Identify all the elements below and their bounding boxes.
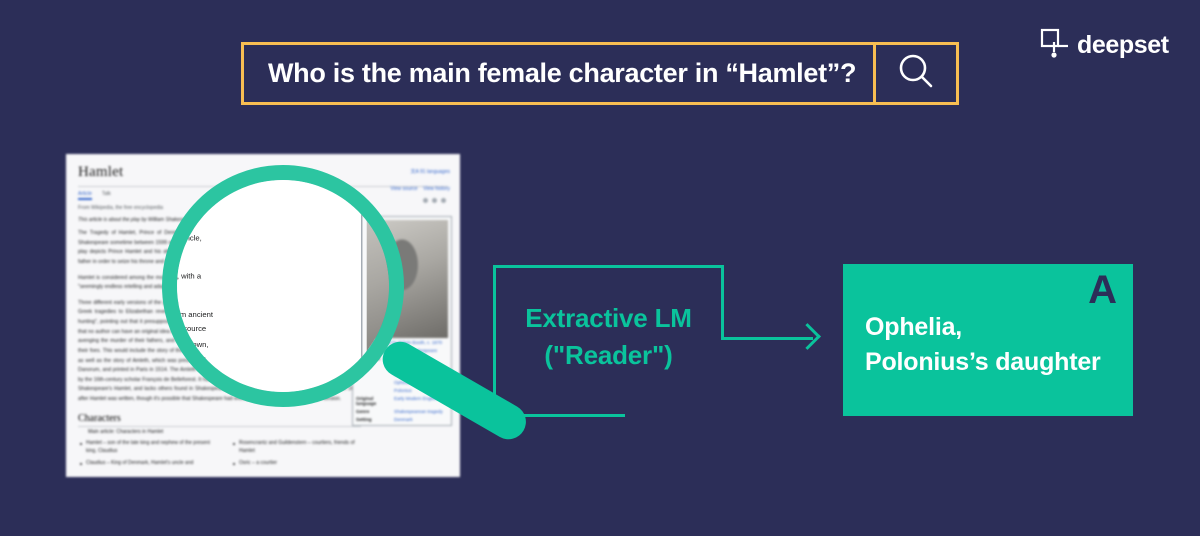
answer-card: A Ophelia, Polonius’s daughter [843,264,1133,416]
magnifying-glass-icon: Hamlet portrayed by Edwin Booth, c. 1870… [162,165,404,407]
list-item: Rosencrantz and Guildenstern – courtiers… [239,439,368,456]
deepset-logo: deepset [1040,28,1169,63]
lens-text-block: espeare. For the type of settlement, see… [177,180,389,392]
search-query-text: Who is the main female character in “Ham… [268,58,856,89]
more-icon[interactable] [441,198,446,203]
reader-label-line1: Extractive LM [493,300,724,337]
brand-name: deepset [1077,33,1169,58]
lock-icon[interactable] [432,198,437,203]
answer-badge: A [1088,270,1117,310]
arrow-head-icon [794,323,821,350]
lens-line: t, often shortened to Hamlet (/ˈhæmlɪt/)… [177,201,389,216]
reader-bracket-bottom [493,414,625,417]
lens-line: the murder of their fathers, and many ab… [177,368,389,383]
infobox-row: GenreShakespearean tragedy [356,409,448,414]
lens-line: espeare. For the type of settlement, see… [177,180,389,193]
list-item: Claudius – King of Denmark, Hamlet's unc… [86,459,215,468]
list-item: Hamlet – son of the late king and nephew… [86,439,215,456]
answer-text: Ophelia, Polonius’s daughter [865,310,1101,379]
lens-line: rince Hamlet and his attempts to exact r… [177,231,389,246]
search-bar[interactable]: Who is the main female character in “Ham… [241,42,959,105]
doc-language-selector[interactable]: 文A 91 languages [411,168,450,175]
deepset-square-mark-icon [1040,28,1068,63]
slide-canvas: deepset Who is the main female character… [0,0,1200,536]
answer-line2: Polonius’s daughter [865,345,1101,380]
reader-label: Extractive LM ("Reader") [493,300,724,374]
characters-column-left: Hamlet – son of the late king and nephew… [78,439,215,471]
doc-page-action-icons[interactable] [423,198,446,203]
lens-line: powerful and influential tragedies in th… [177,270,389,285]
reader-bracket-top [493,265,724,268]
search-input[interactable]: Who is the main female character in “Ham… [244,45,873,102]
lens-line: 599 and 1601. It is Shakespeare's longes… [177,216,389,231]
search-button[interactable] [876,45,956,102]
lens-line: The editors of the Arden Shakespeare que… [177,323,389,338]
list-item: Osric – a courtier [239,459,368,468]
doc-view-source[interactable]: View source [390,186,417,192]
characters-columns: Hamlet – son of the late king and nephew… [78,439,368,471]
doc-view-history[interactable]: View history [423,186,450,192]
lens-line: art their foes. This would include the s… [177,383,389,392]
doc-tools[interactable]: View source View history [390,186,450,192]
search-icon [896,51,936,96]
lens-line: es that authors always require ideas fro… [177,338,389,353]
doc-section-heading: Characters [78,413,361,427]
doc-main-article-note: Main article: Characters in Hamlet [88,429,448,435]
doc-tab-talk[interactable]: Talk [102,191,111,200]
magnifier-lens: Hamlet portrayed by Edwin Booth, c. 1870… [177,180,389,392]
reader-label-line2: ("Reader") [493,337,724,374]
lens-line: n original idea or be an originator. Whe… [177,353,389,368]
star-icon[interactable] [423,198,428,203]
lens-line: pointed to as possible sources for Shake… [177,308,389,323]
lens-line: ther in order to seize his throne and ma… [177,246,389,261]
doc-tab-article[interactable]: Article [78,191,92,200]
magnifier-lens-content: Hamlet portrayed by Edwin Booth, c. 1870… [177,180,389,392]
characters-column-right: Rosencrantz and Guildenstern – courtiers… [231,439,368,471]
infobox-row: SettingDenmark [356,417,448,422]
lens-line: elling and adaptation by others".[1] [177,285,389,300]
answer-line1: Ophelia, [865,310,1101,345]
